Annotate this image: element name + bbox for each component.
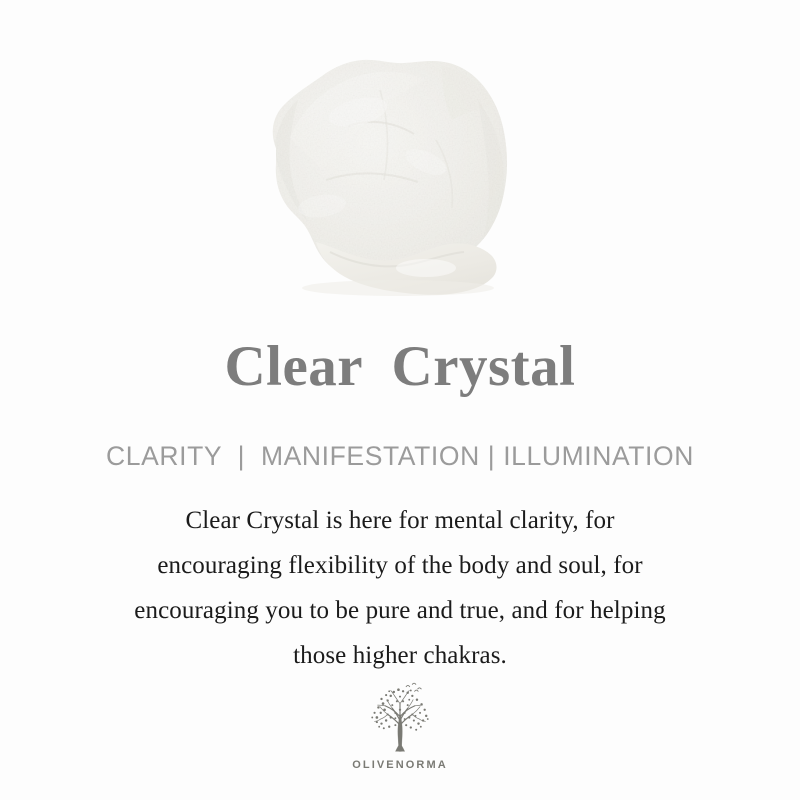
product-attributes: CLARITY | MANIFESTATION | ILLUMINATION (0, 440, 800, 473)
description-line: Clear Crystal is here for mental clarity… (50, 498, 750, 543)
product-image-area (0, 0, 800, 320)
tree-logo-icon (361, 682, 439, 756)
page-title: Clear Crystal (0, 336, 800, 398)
clear-crystal-image (230, 30, 530, 300)
product-card: Clear Crystal CLARITY | MANIFESTATION | … (0, 0, 800, 800)
crystal-shadow (302, 280, 494, 296)
description-line: those higher chakras. (50, 633, 750, 678)
description-line: encouraging flexibility of the body and … (50, 543, 750, 588)
brand-name: OLIVENORMA (352, 759, 448, 771)
product-description: Clear Crystal is here for mental clarity… (50, 498, 750, 678)
brand-logo[interactable]: OLIVENORMA (0, 682, 800, 771)
bird-glyphs (406, 683, 421, 691)
description-line: encouraging you to be pure and true, and… (50, 588, 750, 633)
